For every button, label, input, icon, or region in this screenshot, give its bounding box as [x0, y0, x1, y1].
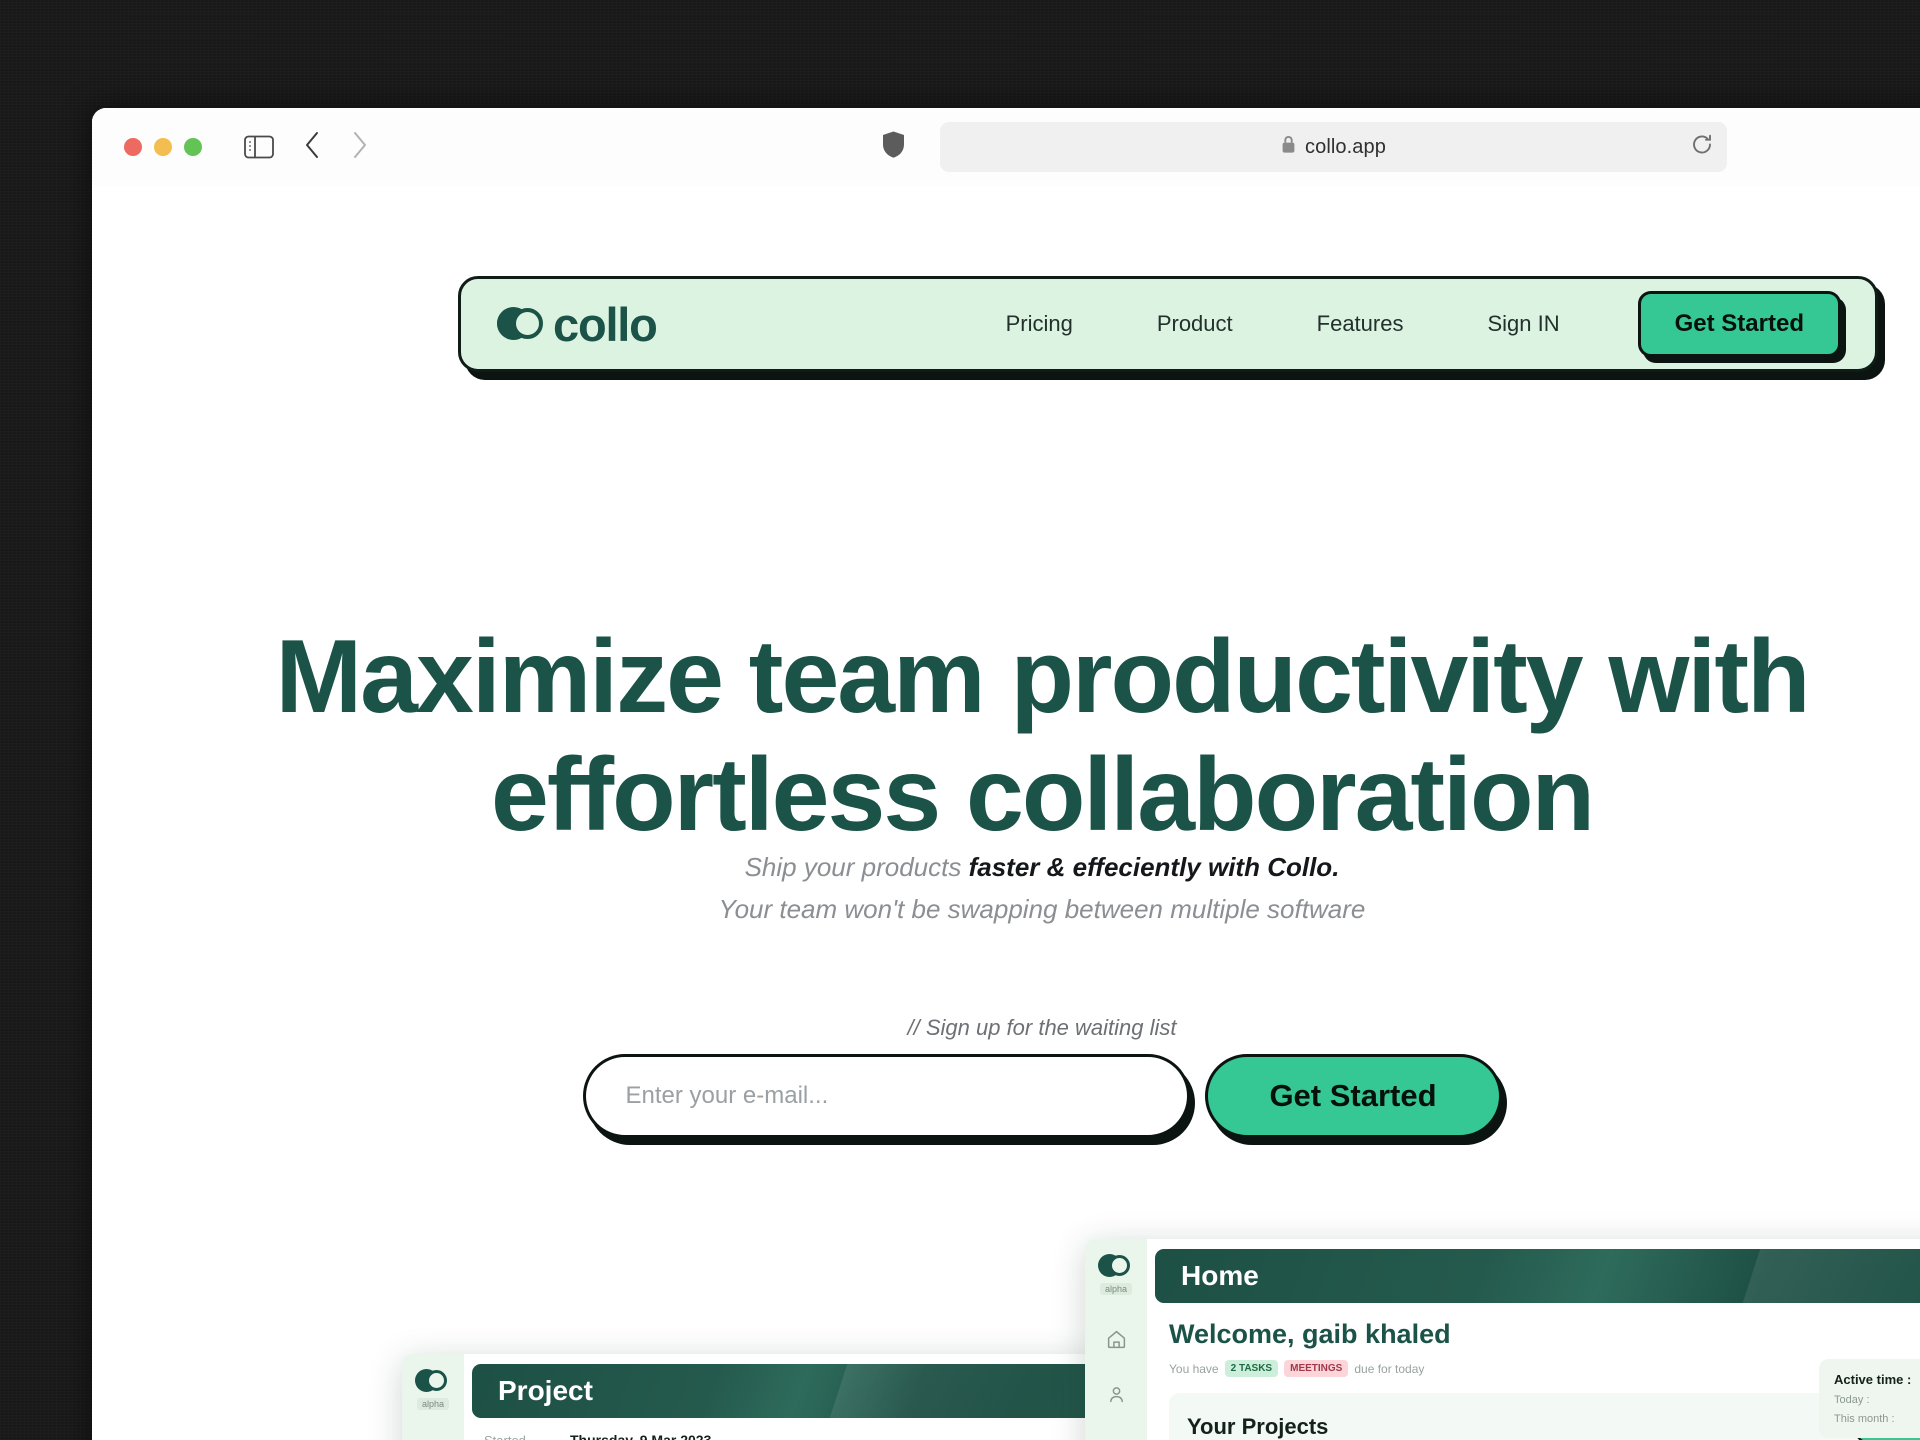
hero-subtitle-pre: Ship your products — [745, 852, 969, 882]
nav-item-sign-in[interactable]: Sign IN — [1445, 311, 1601, 337]
collo-logo-icon — [497, 307, 543, 341]
maximize-window-button[interactable] — [184, 138, 202, 156]
active-time-title: Active time : — [1834, 1372, 1920, 1387]
email-field[interactable] — [583, 1054, 1190, 1138]
page-content: collo Pricing Product Features Sign IN G… — [92, 186, 1920, 1440]
nav-links: Pricing Product Features Sign IN Get Sta… — [964, 291, 1841, 357]
welcome-sub-pre: You have — [1169, 1362, 1219, 1376]
lock-icon — [1281, 135, 1296, 159]
active-time-row: Today : 3hr, 3 — [1834, 1394, 1920, 1406]
project-mock-title: Project — [498, 1375, 593, 1407]
logo[interactable]: collo — [497, 301, 657, 348]
logo-text: collo — [553, 301, 657, 348]
sidebar-toggle-icon[interactable] — [244, 135, 274, 159]
hero-title-line-1: Maximize team productivity with — [276, 619, 1809, 735]
meetings-badge: MEETINGS — [1284, 1360, 1348, 1377]
collo-logo-icon — [1096, 1253, 1136, 1279]
hero-title-line-2: effortless collaboration — [92, 748, 1920, 844]
your-projects-header: Your Projects + New Project — [1187, 1409, 1920, 1440]
shield-icon[interactable] — [882, 131, 905, 164]
home-mock-sidebar: alpha — [1085, 1239, 1147, 1440]
page-title: Maximize team productivity with effortle… — [92, 630, 1920, 843]
project-mock-body: › Project Started Thursday, 9 Mar 2023 M… — [464, 1354, 1102, 1440]
home-main: Welcome, gaib khaled You have 2 TASKS ME… — [1147, 1303, 1920, 1440]
tasks-badge: 2 TASKS — [1225, 1360, 1279, 1377]
your-projects-title: Your Projects — [1187, 1414, 1328, 1440]
home-mock-sidebar-icons — [1106, 1329, 1127, 1440]
chevron-right-icon[interactable]: › — [472, 1380, 473, 1403]
home-mock-title: Home — [1181, 1260, 1259, 1292]
close-window-button[interactable] — [124, 138, 142, 156]
home-icon[interactable] — [1106, 1329, 1127, 1350]
alpha-badge: alpha — [417, 1398, 449, 1410]
home-app-mockup: alpha › Home Welcome, gaib khaled — [1085, 1239, 1920, 1440]
browser-toolbar: collo.app — [92, 108, 1920, 186]
hero-subtitle-emphasis: faster & effeciently with Collo. — [969, 852, 1340, 882]
forward-button[interactable] — [351, 130, 368, 165]
site-navbar: collo Pricing Product Features Sign IN G… — [458, 276, 1878, 372]
home-mock-body: › Home Welcome, gaib khaled You have 2 T… — [1147, 1239, 1920, 1440]
nav-item-pricing[interactable]: Pricing — [964, 311, 1115, 337]
reload-icon[interactable] — [1691, 134, 1713, 161]
signup-form: Get Started — [92, 1054, 1920, 1138]
person-icon[interactable] — [1106, 1384, 1127, 1405]
project-started-label: Started — [484, 1433, 570, 1440]
waitlist-label: // Sign up for the waiting list — [92, 1015, 1920, 1041]
active-time-key: This month : — [1834, 1413, 1895, 1425]
home-right-panel: Active time : Today : 3hr, 3 This month … — [1819, 1359, 1920, 1440]
browser-window: collo.app collo Pricing Product Featur — [92, 108, 1920, 1440]
project-started-value: Thursday, 9 Mar 2023 — [570, 1432, 711, 1440]
hero-subtitle: Ship your products faster & effeciently … — [92, 846, 1920, 930]
project-app-mockup: alpha › Project Started Thursday, 9 Mar … — [402, 1354, 1102, 1440]
active-time-row: This month : 8d, 9 — [1834, 1413, 1920, 1425]
welcome-heading: Welcome, gaib khaled — [1169, 1319, 1920, 1350]
minimize-window-button[interactable] — [154, 138, 172, 156]
back-button[interactable] — [304, 130, 321, 165]
active-time-key: Today : — [1834, 1394, 1869, 1406]
home-mock-header: › Home — [1155, 1249, 1920, 1303]
url-bar[interactable]: collo.app — [940, 122, 1727, 172]
url-text: collo.app — [1305, 136, 1386, 159]
project-started-row: Started Thursday, 9 Mar 2023 — [484, 1432, 1102, 1440]
chevron-right-icon[interactable]: › — [1155, 1265, 1156, 1288]
nav-item-features[interactable]: Features — [1275, 311, 1446, 337]
hero-subtitle-line-1: Ship your products faster & effeciently … — [92, 846, 1920, 888]
welcome-subtext: You have 2 TASKS MEETINGS due for today — [1169, 1360, 1920, 1377]
active-time-card: Active time : Today : 3hr, 3 This month … — [1819, 1359, 1920, 1438]
collo-logo-icon — [413, 1368, 453, 1394]
window-traffic-lights — [124, 138, 202, 156]
nav-get-started-button[interactable]: Get Started — [1638, 291, 1841, 357]
hero-subtitle-line-2: Your team won't be swapping between mult… — [92, 888, 1920, 930]
hero-get-started-button[interactable]: Get Started — [1205, 1054, 1502, 1138]
project-meta: Started Thursday, 9 Mar 2023 Members hay… — [464, 1418, 1102, 1440]
project-mock-header: › Project — [472, 1364, 1102, 1418]
welcome-sub-post: due for today — [1354, 1362, 1424, 1376]
your-projects-card: Your Projects + New Project Status: All — [1169, 1393, 1920, 1440]
project-mock-sidebar: alpha — [402, 1354, 464, 1440]
nav-item-product[interactable]: Product — [1115, 311, 1275, 337]
alpha-badge: alpha — [1100, 1283, 1132, 1295]
